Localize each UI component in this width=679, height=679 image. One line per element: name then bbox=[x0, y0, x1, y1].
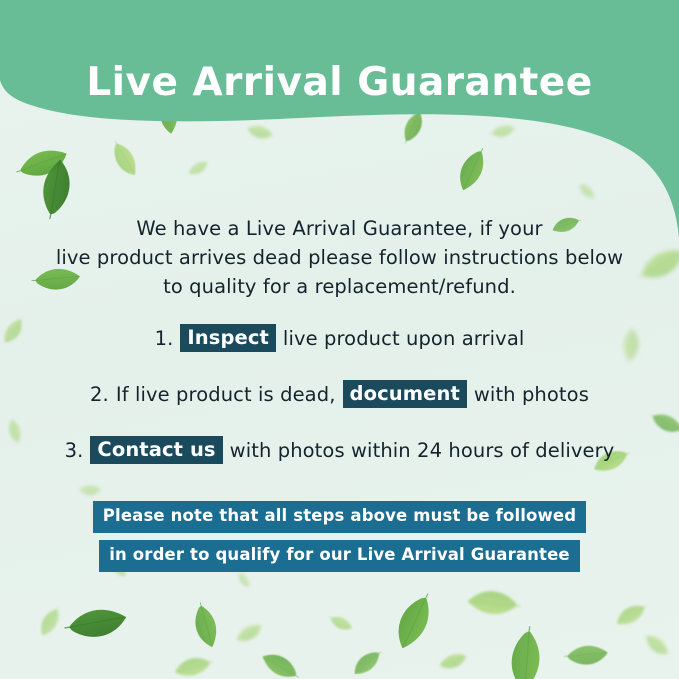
step-item-2: 2. If live product is dead, document wit… bbox=[0, 374, 679, 414]
step-text: with photos within 24 hours of delivery bbox=[230, 439, 615, 462]
intro-line-3: to quality for a replacement/refund. bbox=[0, 272, 679, 301]
notice-bar-line-2: in order to qualify for our Live Arrival… bbox=[99, 540, 580, 572]
step-number: 2. bbox=[90, 383, 109, 406]
intro-line-2: live product arrives dead please follow … bbox=[0, 243, 679, 272]
notice-bar-line-1: Please note that all steps above must be… bbox=[93, 501, 586, 533]
step-highlight-inspect: Inspect bbox=[180, 324, 276, 352]
intro-line-1: We have a Live Arrival Guarantee, if you… bbox=[0, 214, 679, 243]
step-item-1: 1. Inspect live product upon arrival bbox=[0, 318, 679, 358]
step-item-3: 3. Contact us with photos within 24 hour… bbox=[0, 430, 679, 470]
instruction-steps-list: 1. Inspect live product upon arrival 2. … bbox=[0, 318, 679, 486]
step-text: live product upon arrival bbox=[283, 327, 524, 350]
intro-paragraph: We have a Live Arrival Guarantee, if you… bbox=[0, 214, 679, 301]
step-text-before: If live product is dead, bbox=[116, 383, 336, 406]
notice-block: Please note that all steps above must be… bbox=[0, 501, 679, 579]
step-number: 3. bbox=[65, 439, 84, 462]
live-arrival-guarantee-banner: Live Arrival Guarantee We have a Live Ar… bbox=[0, 0, 679, 679]
step-number: 1. bbox=[155, 327, 174, 350]
step-highlight-document: document bbox=[343, 380, 467, 408]
content-area: We have a Live Arrival Guarantee, if you… bbox=[0, 0, 679, 679]
step-highlight-contact-us: Contact us bbox=[90, 436, 222, 464]
step-text: with photos bbox=[474, 383, 589, 406]
